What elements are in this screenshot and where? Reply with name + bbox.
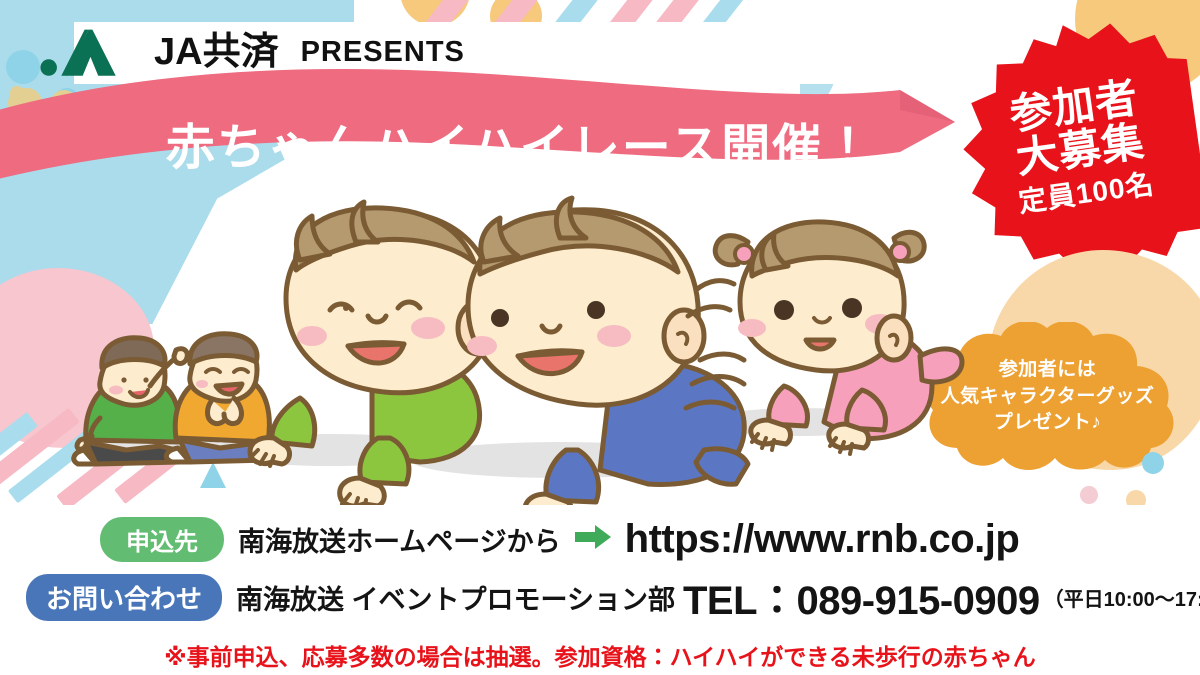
eligibility-note: ※事前申込、応募多数の場合は抽選。参加資格：ハイハイができる未歩行の赤ちゃん [0, 638, 1200, 672]
presents-label: PRESENTS [301, 36, 465, 69]
contact-pill-badge: お問い合わせ [26, 574, 222, 621]
orange-circle-decor [400, 0, 470, 26]
ja-kyosai-logo-icon [38, 26, 140, 78]
apply-pill-badge: 申込先 [100, 517, 224, 562]
application-url-link[interactable]: https://www.rnb.co.jp [625, 517, 1020, 562]
contact-info-section: 申込先 南海放送ホームページから https://www.rnb.co.jp お… [0, 505, 1200, 675]
contact-telephone[interactable]: TEL：089-915-0909 [683, 568, 1040, 626]
application-row: 申込先 南海放送ホームページから https://www.rnb.co.jp [0, 517, 1200, 562]
promo-poster: JA共済 PRESENTS 赤ちゃんハイハイレース開催！ 参加者 大募集 定員1… [0, 0, 1200, 675]
arrow-right-icon [573, 524, 613, 555]
contact-row: お問い合わせ 南海放送 イベントプロモーション部 TEL：089-915-090… [0, 568, 1200, 626]
crawling-babies-illustration [0, 150, 1200, 530]
apply-text: 南海放送ホームページから [238, 520, 561, 559]
logo-text: JA共済 [154, 33, 279, 71]
contact-hours: （平日10:00〜17:00） [1044, 583, 1200, 612]
brand-logo: JA共済 PRESENTS [38, 26, 465, 78]
orange-circle-decor [490, 0, 542, 42]
contact-org-text: 南海放送 イベントプロモーション部 [236, 578, 675, 617]
